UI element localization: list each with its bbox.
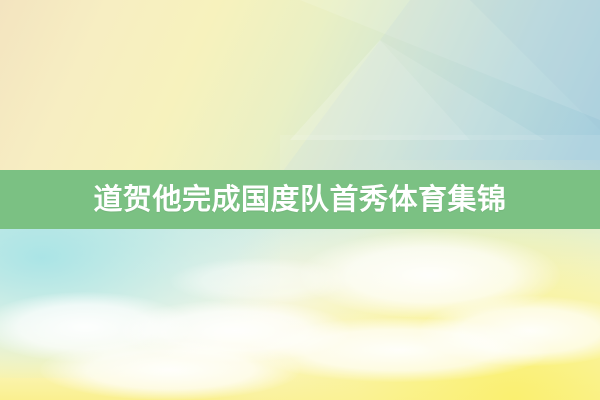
banner-image: 道贺他完成国度队首秀体育集锦 (0, 0, 600, 400)
banner-title: 道贺他完成国度队首秀体育集锦 (93, 185, 506, 214)
title-band: 道贺他完成国度队首秀体育集锦 (0, 170, 600, 229)
cloud-shape (170, 258, 350, 304)
cloud-shape (40, 340, 300, 400)
